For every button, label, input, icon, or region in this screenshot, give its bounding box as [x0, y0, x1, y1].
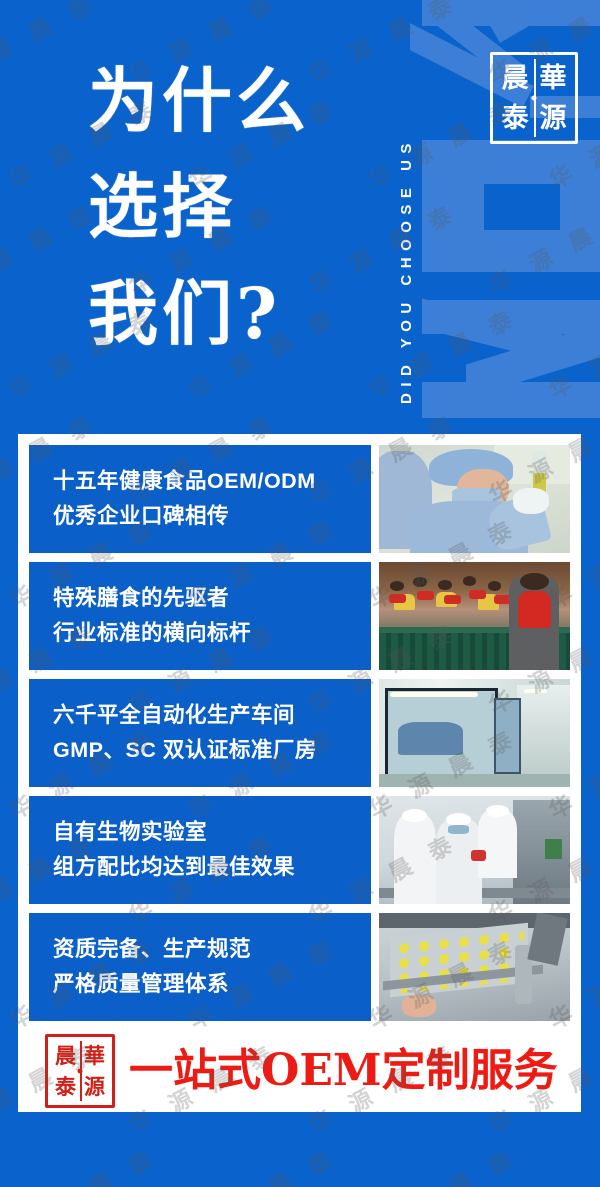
seal-glyph-1: 晨 — [496, 58, 534, 98]
feature-photo-3 — [379, 679, 570, 787]
feature-row-5: 资质完备、生产规范 严格质量管理体系 — [29, 913, 570, 1021]
seal-glyph-3: 泰 — [496, 98, 534, 138]
vertical-tagline: DID YOU CHOOSE US — [398, 14, 415, 404]
feature-photo-1 — [379, 445, 570, 553]
hero-title-line-2: 选择 — [88, 154, 310, 260]
feature-text-2: 特殊膳食的先驱者 行业标准的横向标杆 — [29, 562, 371, 670]
feature-4-line-2: 组方配比均达到最佳效果 — [53, 850, 371, 885]
feature-photo-2 — [379, 562, 570, 670]
hero-title-line-1: 为什么 — [88, 48, 310, 154]
feature-5-line-2: 严格质量管理体系 — [53, 967, 371, 1002]
feature-4-line-1: 自有生物实验室 — [53, 815, 371, 850]
cta-seal-glyph-1: 晨 — [51, 1040, 80, 1071]
feature-text-5: 资质完备、生产规范 严格质量管理体系 — [29, 913, 371, 1021]
hero-title-line-3: 我们? — [88, 261, 310, 367]
feature-2-line-2: 行业标准的横向标杆 — [53, 616, 371, 651]
seal-glyph-4: 源 — [534, 98, 572, 138]
watermark-text: 华 源 晨 泰 — [542, 1138, 600, 1187]
feature-3-line-1: 六千平全自动化生产车间 — [53, 698, 371, 733]
hero-title: 为什么 选择 我们? — [88, 48, 310, 367]
feature-1-line-1: 十五年健康食品OEM/ODM — [53, 464, 371, 499]
cta-seal-glyph-3: 泰 — [51, 1071, 80, 1102]
cta-banner[interactable]: 晨 華 泰 源 一站式OEM定制服务 — [29, 1030, 570, 1112]
feature-text-3: 六千平全自动化生产车间 GMP、SC 双认证标准厂房 — [29, 679, 371, 787]
watermark-text: 华 源 晨 泰 — [362, 1138, 524, 1187]
brand-seal-icon: 晨 華 泰 源 — [490, 52, 578, 144]
feature-row-2: 特殊膳食的先驱者 行业标准的横向标杆 — [29, 562, 570, 670]
feature-text-4: 自有生物实验室 组方配比均达到最佳效果 — [29, 796, 371, 904]
feature-row-1: 十五年健康食品OEM/ODM 优秀企业口碑相传 — [29, 445, 570, 553]
feature-text-1: 十五年健康食品OEM/ODM 优秀企业口碑相传 — [29, 445, 371, 553]
feature-2-line-1: 特殊膳食的先驱者 — [53, 581, 371, 616]
feature-row-4: 自有生物实验室 组方配比均达到最佳效果 — [29, 796, 570, 904]
cta-seal-glyph-2: 華 — [80, 1040, 109, 1071]
feature-3-line-2: GMP、SC 双认证标准厂房 — [53, 733, 371, 768]
feature-5-line-1: 资质完备、生产规范 — [53, 932, 371, 967]
feature-photo-4 — [379, 796, 570, 904]
feature-1-line-2: 优秀企业口碑相传 — [53, 499, 371, 534]
watermark-text: 华 源 晨 泰 — [182, 1138, 344, 1187]
features-panel: 十五年健康食品OEM/ODM 优秀企业口碑相传 特殊膳食的先驱者 行业标准的横向… — [18, 434, 581, 1112]
seal-glyph-2: 華 — [534, 58, 572, 98]
cta-seal-glyph-4: 源 — [80, 1071, 109, 1102]
cta-text: 一站式OEM定制服务 — [129, 1049, 558, 1093]
watermark-text: 华 源 晨 泰 — [2, 1138, 164, 1187]
cta-seal-icon: 晨 華 泰 源 — [45, 1034, 115, 1108]
feature-photo-5 — [379, 913, 570, 1021]
hero-section: 为什么 选择 我们? DID YOU CHOOSE US 晨 華 泰 源 — [0, 0, 600, 432]
feature-row-3: 六千平全自动化生产车间 GMP、SC 双认证标准厂房 — [29, 679, 570, 787]
